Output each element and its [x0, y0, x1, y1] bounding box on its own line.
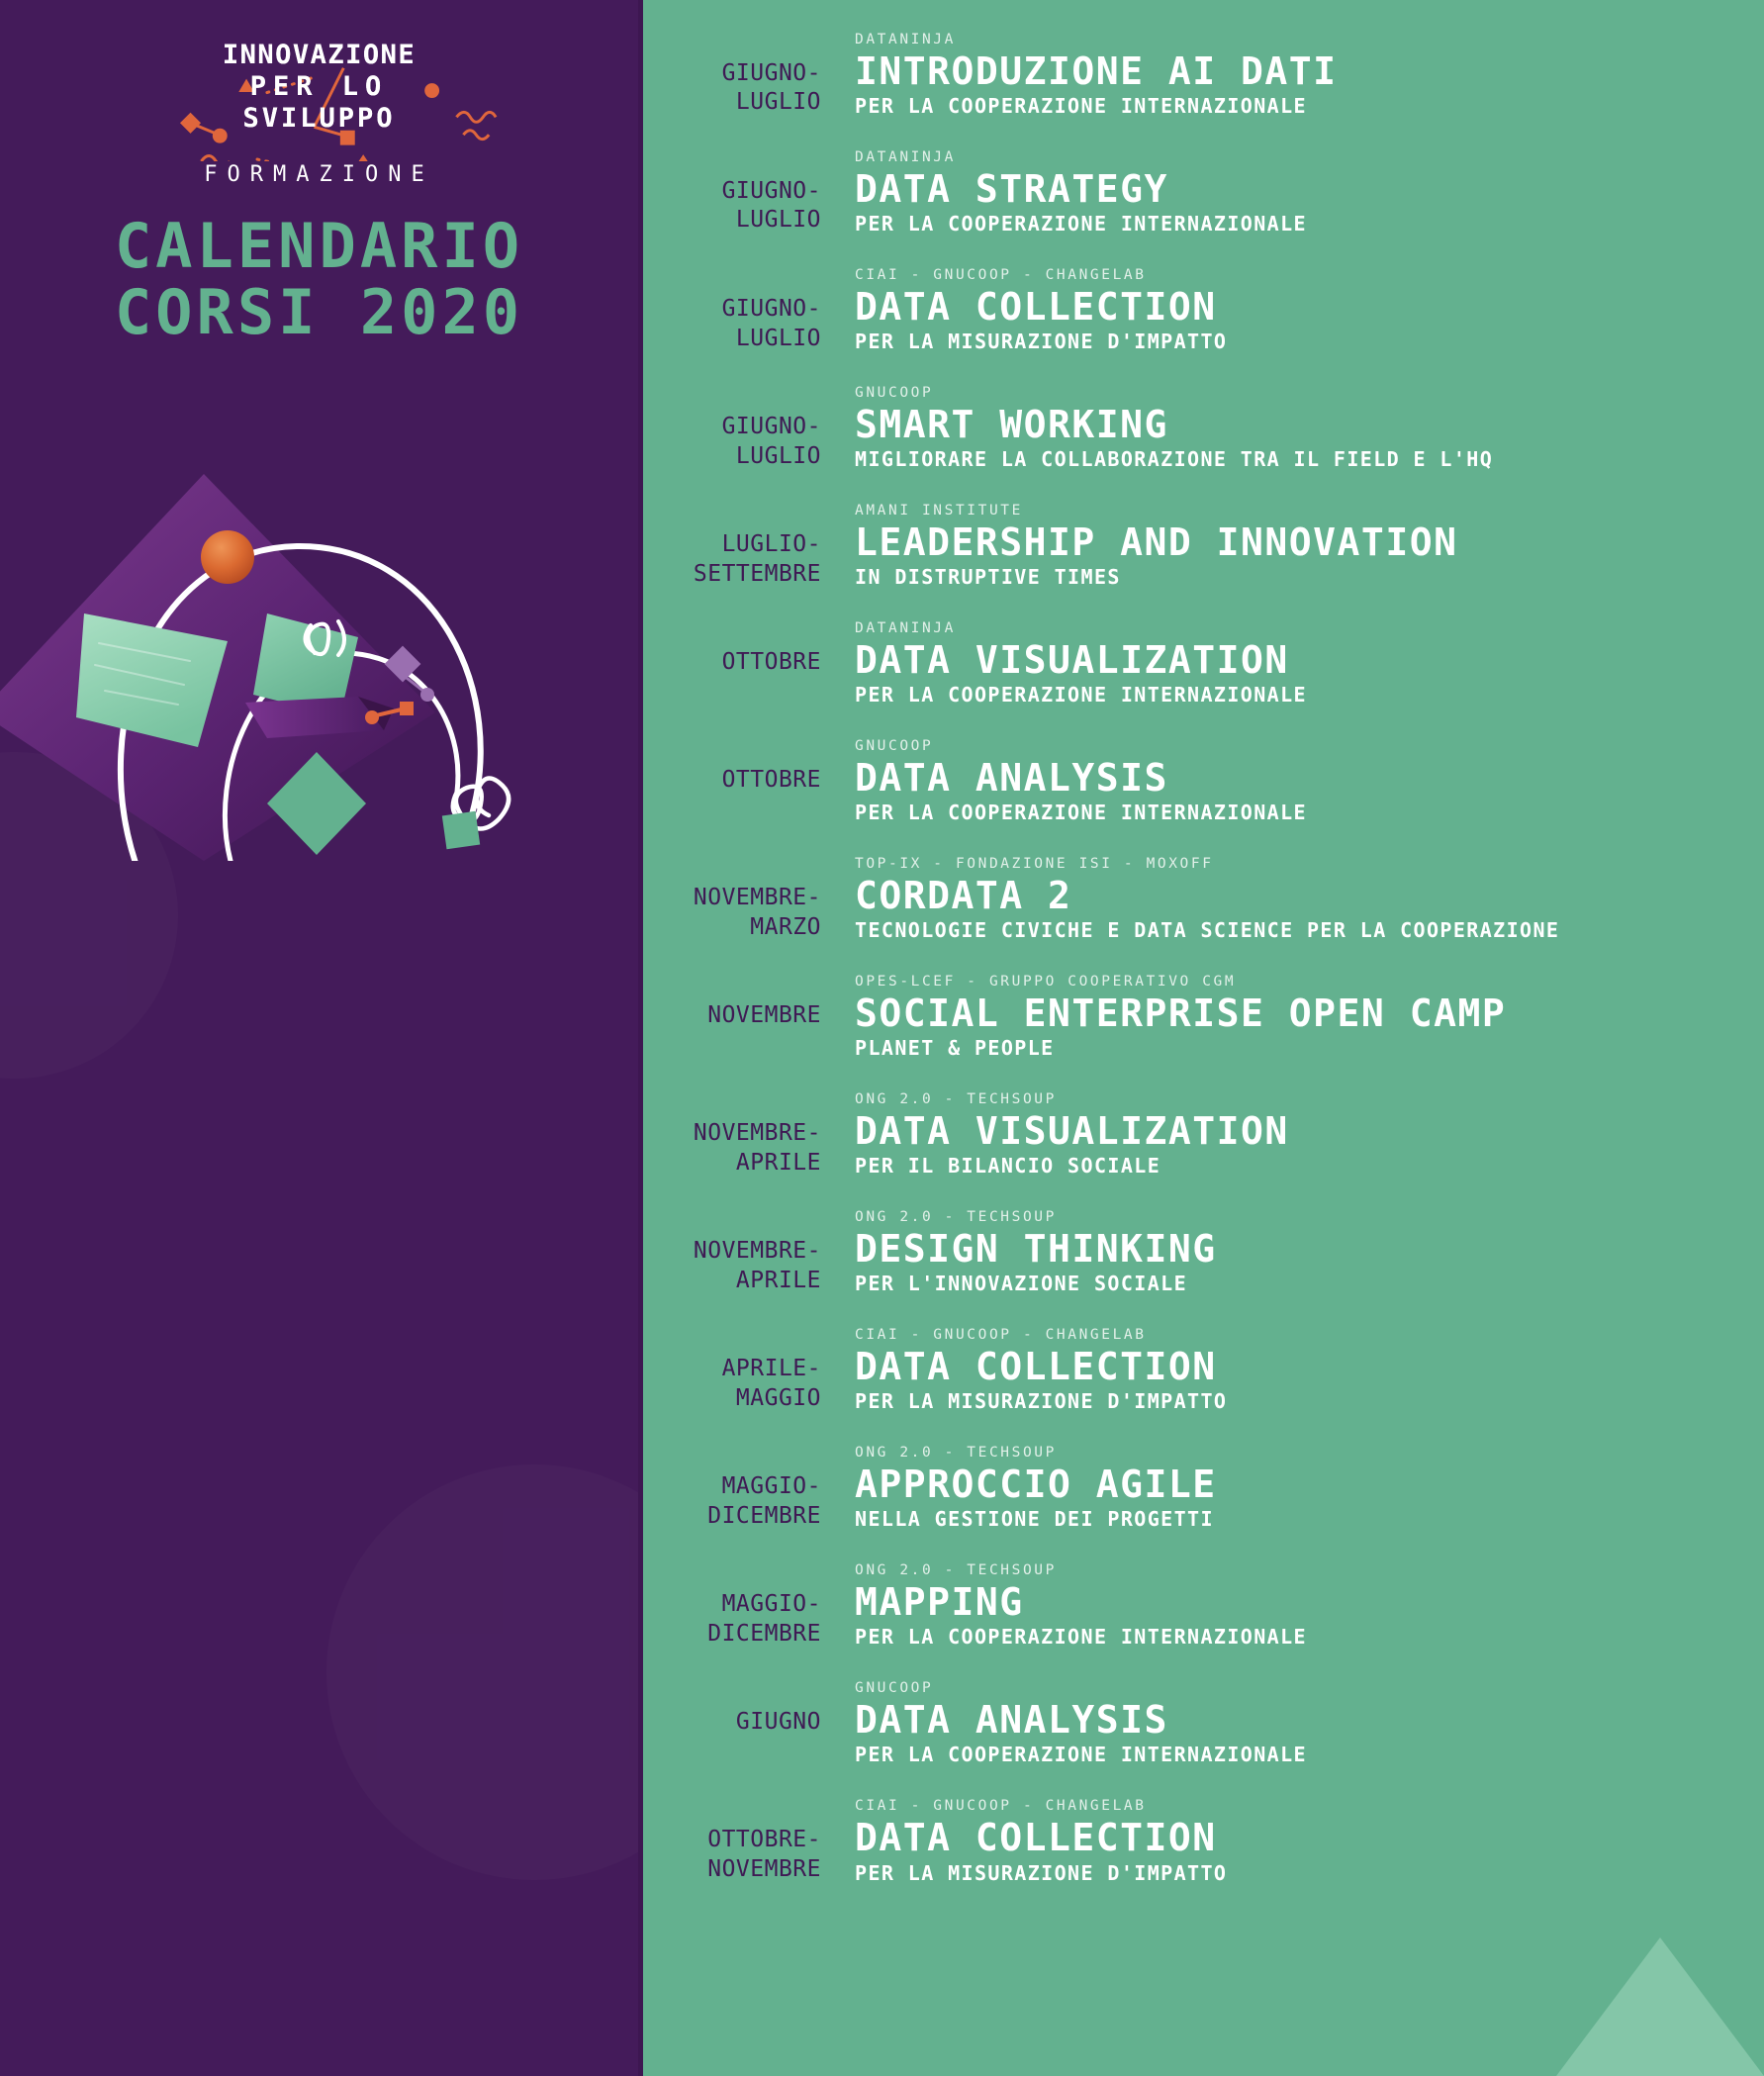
course-body: DATANINJA DATA STRATEGY PER LA COOPERAZI… — [821, 149, 1724, 236]
course-organizer-10: ONG 2.0 - TECHSOUP — [855, 1209, 1724, 1225]
course-list: GIUGNO- LUGLIO DATANINJA INTRODUZIONE AI… — [643, 0, 1764, 1885]
course-date-2: GIUGNO- LUGLIO — [643, 267, 821, 353]
course-body: GNUCOOP DATA ANALYSIS PER LA COOPERAZION… — [821, 738, 1724, 824]
course-row-8[interactable]: NOVEMBRE OPES-LCEF - GRUPPO COOPERATIVO … — [643, 974, 1764, 1060]
course-organizer-12: ONG 2.0 - TECHSOUP — [855, 1445, 1724, 1461]
course-row-12[interactable]: MAGGIO- DICEMBRE ONG 2.0 - TECHSOUP APPR… — [643, 1445, 1764, 1531]
course-body: AMANI INSTITUTE LEADERSHIP AND INNOVATIO… — [821, 503, 1724, 589]
course-subtitle-2: PER LA MISURAZIONE D'IMPATTO — [855, 330, 1724, 353]
course-row-13[interactable]: MAGGIO- DICEMBRE ONG 2.0 - TECHSOUP MAPP… — [643, 1562, 1764, 1649]
course-subtitle-7: TECNOLOGIE CIVICHE E DATA SCIENCE PER LA… — [855, 918, 1724, 942]
course-row-7[interactable]: NOVEMBRE- MARZO TOP-IX - FONDAZIONE ISI … — [643, 856, 1764, 942]
course-body: ONG 2.0 - TECHSOUP DATA VISUALIZATION PE… — [821, 1091, 1724, 1178]
course-row-4[interactable]: LUGLIO- SETTEMBRE AMANI INSTITUTE LEADER… — [643, 503, 1764, 589]
course-title-0: INTRODUZIONE AI DATI — [855, 51, 1724, 92]
course-date-5: OTTOBRE — [643, 620, 821, 677]
course-row-14[interactable]: GIUGNO GNUCOOP DATA ANALYSIS PER LA COOP… — [643, 1680, 1764, 1766]
course-subtitle-13: PER LA COOPERAZIONE INTERNAZIONALE — [855, 1625, 1724, 1649]
course-title-15: DATA COLLECTION — [855, 1818, 1724, 1858]
background-blob-lower — [326, 1464, 643, 1880]
course-title-7: CORDATA 2 — [855, 876, 1724, 916]
course-organizer-9: ONG 2.0 - TECHSOUP — [855, 1091, 1724, 1107]
course-organizer-13: ONG 2.0 - TECHSOUP — [855, 1562, 1724, 1578]
course-body: ONG 2.0 - TECHSOUP APPROCCIO AGILE NELLA… — [821, 1445, 1724, 1531]
course-title-13: MAPPING — [855, 1582, 1724, 1623]
course-row-2[interactable]: GIUGNO- LUGLIO CIAI - GNUCOOP - CHANGELA… — [643, 267, 1764, 353]
course-organizer-2: CIAI - GNUCOOP - CHANGELAB — [855, 267, 1724, 283]
course-title-1: DATA STRATEGY — [855, 169, 1724, 210]
course-organizer-4: AMANI INSTITUTE — [855, 503, 1724, 519]
course-subtitle-14: PER LA COOPERAZIONE INTERNAZIONALE — [855, 1743, 1724, 1766]
course-body: TOP-IX - FONDAZIONE ISI - MOXOFF CORDATA… — [821, 856, 1724, 942]
course-title-4: LEADERSHIP AND INNOVATION — [855, 522, 1724, 563]
course-body: OPES-LCEF - GRUPPO COOPERATIVO CGM SOCIA… — [821, 974, 1724, 1060]
course-organizer-8: OPES-LCEF - GRUPPO COOPERATIVO CGM — [855, 974, 1724, 990]
course-title-10: DESIGN THINKING — [855, 1229, 1724, 1270]
course-title-14: DATA ANALYSIS — [855, 1700, 1724, 1741]
right-panel: GIUGNO- LUGLIO DATANINJA INTRODUZIONE AI… — [643, 0, 1764, 2076]
corner-triangle-decoration — [1556, 1928, 1764, 2076]
course-body: GNUCOOP SMART WORKING MIGLIORARE LA COLL… — [821, 385, 1724, 471]
course-date-12: MAGGIO- DICEMBRE — [643, 1445, 821, 1531]
course-subtitle-15: PER LA MISURAZIONE D'IMPATTO — [855, 1861, 1724, 1885]
course-title-5: DATA VISUALIZATION — [855, 640, 1724, 681]
course-organizer-1: DATANINJA — [855, 149, 1724, 165]
course-date-3: GIUGNO- LUGLIO — [643, 385, 821, 471]
course-title-9: DATA VISUALIZATION — [855, 1111, 1724, 1152]
course-subtitle-12: NELLA GESTIONE DEI PROGETTI — [855, 1507, 1724, 1531]
logo: INNOVAZIONE PER LO SVILUPPO — [0, 34, 638, 162]
course-organizer-3: GNUCOOP — [855, 385, 1724, 401]
logo-line-3: SVILUPPO — [0, 105, 638, 133]
course-date-1: GIUGNO- LUGLIO — [643, 149, 821, 236]
left-panel: INNOVAZIONE PER LO SVILUPPO FORMAZIONE C… — [0, 0, 643, 2076]
course-subtitle-8: PLANET & PEOPLE — [855, 1036, 1724, 1060]
course-date-14: GIUGNO — [643, 1680, 821, 1737]
course-organizer-5: DATANINJA — [855, 620, 1724, 636]
course-subtitle-11: PER LA MISURAZIONE D'IMPATTO — [855, 1389, 1724, 1413]
logo-line-1: INNOVAZIONE — [0, 42, 638, 69]
course-row-10[interactable]: NOVEMBRE- APRILE ONG 2.0 - TECHSOUP DESI… — [643, 1209, 1764, 1295]
course-date-13: MAGGIO- DICEMBRE — [643, 1562, 821, 1649]
course-organizer-0: DATANINJA — [855, 32, 1724, 47]
course-title-8: SOCIAL ENTERPRISE OPEN CAMP — [855, 993, 1724, 1034]
corner-triangle-icon — [1556, 1928, 1764, 2076]
eyebrow-label: FORMAZIONE — [0, 162, 638, 187]
course-date-0: GIUGNO- LUGLIO — [643, 32, 821, 118]
course-body: DATANINJA DATA VISUALIZATION PER LA COOP… — [821, 620, 1724, 707]
course-subtitle-5: PER LA COOPERAZIONE INTERNAZIONALE — [855, 683, 1724, 707]
course-subtitle-0: PER LA COOPERAZIONE INTERNAZIONALE — [855, 94, 1724, 118]
course-row-9[interactable]: NOVEMBRE- APRILE ONG 2.0 - TECHSOUP DATA… — [643, 1091, 1764, 1178]
course-subtitle-9: PER IL BILANCIO SOCIALE — [855, 1154, 1724, 1178]
course-body: CIAI - GNUCOOP - CHANGELAB DATA COLLECTI… — [821, 1327, 1724, 1413]
course-date-11: APRILE- MAGGIO — [643, 1327, 821, 1413]
course-body: CIAI - GNUCOOP - CHANGELAB DATA COLLECTI… — [821, 267, 1724, 353]
course-date-10: NOVEMBRE- APRILE — [643, 1209, 821, 1295]
course-body: GNUCOOP DATA ANALYSIS PER LA COOPERAZION… — [821, 1680, 1724, 1766]
poster-root: INNOVAZIONE PER LO SVILUPPO FORMAZIONE C… — [0, 0, 1764, 2076]
course-date-9: NOVEMBRE- APRILE — [643, 1091, 821, 1178]
course-row-6[interactable]: OTTOBRE GNUCOOP DATA ANALYSIS PER LA COO… — [643, 738, 1764, 824]
course-row-0[interactable]: GIUGNO- LUGLIO DATANINJA INTRODUZIONE AI… — [643, 32, 1764, 118]
course-subtitle-10: PER L'INNOVAZIONE SOCIALE — [855, 1272, 1724, 1295]
logo-line-2: PER LO — [0, 73, 638, 101]
course-subtitle-6: PER LA COOPERAZIONE INTERNAZIONALE — [855, 801, 1724, 824]
page-title-line-2: CORSI 2020 — [0, 280, 638, 346]
course-body: ONG 2.0 - TECHSOUP DESIGN THINKING PER L… — [821, 1209, 1724, 1295]
course-date-7: NOVEMBRE- MARZO — [643, 856, 821, 942]
course-row-15[interactable]: OTTOBRE- NOVEMBRE CIAI - GNUCOOP - CHANG… — [643, 1798, 1764, 1884]
course-subtitle-1: PER LA COOPERAZIONE INTERNAZIONALE — [855, 212, 1724, 236]
orange-sphere-icon — [193, 522, 262, 592]
course-body: ONG 2.0 - TECHSOUP MAPPING PER LA COOPER… — [821, 1562, 1724, 1649]
course-date-6: OTTOBRE — [643, 738, 821, 795]
course-subtitle-3: MIGLIORARE LA COLLABORAZIONE TRA IL FIEL… — [855, 447, 1724, 471]
course-organizer-14: GNUCOOP — [855, 1680, 1724, 1696]
course-subtitle-4: IN DISTRUPTIVE TIMES — [855, 565, 1724, 589]
course-organizer-11: CIAI - GNUCOOP - CHANGELAB — [855, 1327, 1724, 1343]
page-title-line-1: CALENDARIO — [115, 210, 523, 282]
course-row-3[interactable]: GIUGNO- LUGLIO GNUCOOP SMART WORKING MIG… — [643, 385, 1764, 471]
course-title-3: SMART WORKING — [855, 405, 1724, 445]
course-title-2: DATA COLLECTION — [855, 287, 1724, 328]
course-body: DATANINJA INTRODUZIONE AI DATI PER LA CO… — [821, 32, 1724, 118]
illustration-lower-icon — [0, 613, 603, 1029]
course-title-12: APPROCCIO AGILE — [855, 1464, 1724, 1505]
course-title-6: DATA ANALYSIS — [855, 758, 1724, 799]
course-row-1[interactable]: GIUGNO- LUGLIO DATANINJA DATA STRATEGY P… — [643, 149, 1764, 236]
course-organizer-15: CIAI - GNUCOOP - CHANGELAB — [855, 1798, 1724, 1814]
course-row-5[interactable]: OTTOBRE DATANINJA DATA VISUALIZATION PER… — [643, 620, 1764, 707]
course-date-8: NOVEMBRE — [643, 974, 821, 1030]
course-organizer-6: GNUCOOP — [855, 738, 1724, 754]
course-organizer-7: TOP-IX - FONDAZIONE ISI - MOXOFF — [855, 856, 1724, 872]
course-body: CIAI - GNUCOOP - CHANGELAB DATA COLLECTI… — [821, 1798, 1724, 1884]
course-date-15: OTTOBRE- NOVEMBRE — [643, 1798, 821, 1884]
course-date-4: LUGLIO- SETTEMBRE — [643, 503, 821, 589]
course-title-11: DATA COLLECTION — [855, 1347, 1724, 1387]
page-title: CALENDARIO CORSI 2020 — [0, 214, 638, 346]
course-row-11[interactable]: APRILE- MAGGIO CIAI - GNUCOOP - CHANGELA… — [643, 1327, 1764, 1413]
